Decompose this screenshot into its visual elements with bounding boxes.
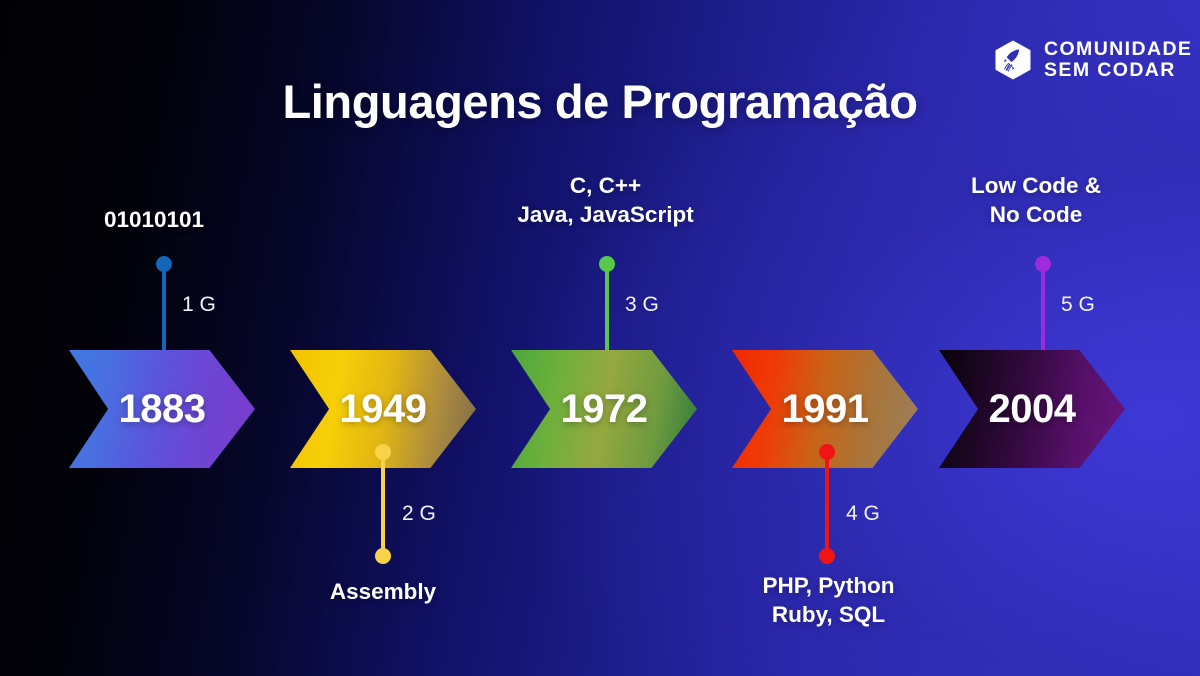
timeline-step-1883: 01010101 1 G 1883 (69, 0, 289, 676)
timeline-label-2004: Low Code & No Code (916, 172, 1156, 230)
timeline-label-1991: PHP, Python Ruby, SQL (696, 572, 961, 630)
infographic-canvas: COMUNIDADE SEM CODAR Linguagens de Progr… (0, 0, 1200, 676)
generation-label-1g: 1 G (182, 293, 216, 317)
chevron-1883[interactable]: 1883 (69, 350, 255, 468)
connector-dot-bottom (375, 548, 391, 564)
timeline-label-1949: Assembly (253, 578, 513, 607)
connector-line (381, 451, 385, 557)
generation-label-2g: 2 G (402, 502, 436, 526)
timeline-step-1949: 1949 2 G Assembly (290, 0, 510, 676)
chevron-year-2004: 2004 (978, 350, 1086, 468)
generation-label-4g: 4 G (846, 502, 880, 526)
generation-label-3g: 3 G (625, 293, 659, 317)
timeline-step-1991: 1991 4 G PHP, Python Ruby, SQL (732, 0, 952, 676)
chevron-2004[interactable]: 2004 (939, 350, 1125, 468)
connector-1949 (375, 444, 391, 564)
connector-1991 (819, 444, 835, 564)
connector-line (825, 451, 829, 557)
chevron-year-1972: 1972 (550, 350, 658, 468)
timeline-label-1972: C, C++ Java, JavaScript (468, 172, 743, 230)
timeline-step-2004: Low Code & No Code 5 G 2004 (939, 0, 1159, 676)
chevron-year-1883: 1883 (108, 350, 216, 468)
timeline-label-1883: 01010101 (24, 206, 284, 235)
connector-dot-bottom (819, 548, 835, 564)
generation-label-5g: 5 G (1061, 293, 1095, 317)
chevron-1972[interactable]: 1972 (511, 350, 697, 468)
